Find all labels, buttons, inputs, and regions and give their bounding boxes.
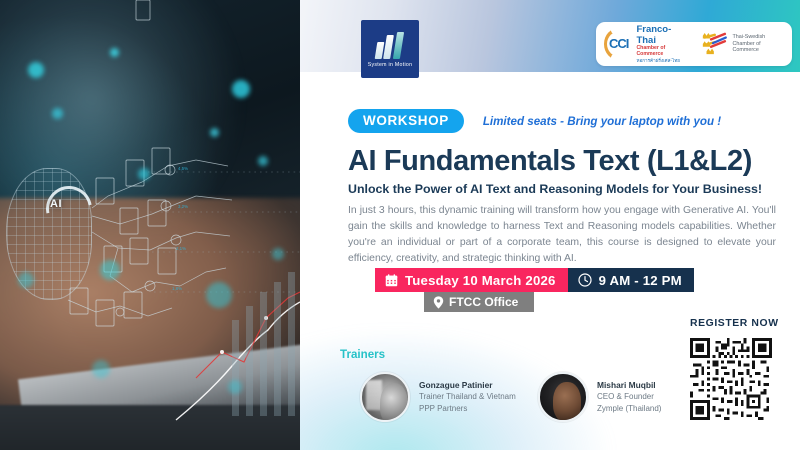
ftcc-wordmark: Franco-Thai Chamber of Commerce หอการค้า… (636, 25, 689, 63)
ftcc-sub: Chamber of Commerce (636, 46, 689, 58)
page-subtitle: Unlock the Power of AI Text and Reasonin… (348, 182, 762, 196)
svg-text:4,5%: 4,5% (178, 166, 188, 171)
bokeh-dot (110, 48, 119, 57)
bokeh-dot (92, 360, 110, 378)
trainers-label: Trainers (340, 348, 385, 361)
bokeh-dot (272, 248, 284, 260)
bokeh-dot (18, 272, 34, 288)
description-text: In just 3 hours, this dynamic training w… (348, 203, 776, 268)
svg-text:3,2%: 3,2% (178, 204, 188, 209)
clock-icon (578, 273, 592, 287)
avatar (538, 372, 588, 422)
event-time-text: 9 AM - 12 PM (599, 273, 682, 288)
trainer-info: Mishari Muqbil CEO & Founder Zymple (Tha… (597, 379, 661, 416)
workshop-row: WORKSHOP Limited seats - Bring your lapt… (348, 109, 721, 133)
sim-m-mark-icon (373, 31, 407, 59)
thai-swedish-chamber-logo: Thai-Swedish Chamber of Commerce (701, 31, 784, 57)
register-now-label: REGISTER NOW (690, 318, 779, 329)
content-panel: System in Motion CCI Franco-Thai Chamber… (300, 0, 800, 450)
bokeh-dot (100, 260, 120, 280)
trainer-info: Gonzague Patinier Trainer Thailand & Vie… (419, 379, 516, 416)
event-date-text: Tuesday 10 March 2026 (405, 273, 556, 288)
event-location-bar: FTCC Office (424, 292, 534, 312)
ftcc-thai: หอการค้าฝรั่งเศส-ไทย (636, 58, 689, 63)
location-pin-icon (433, 296, 444, 309)
bokeh-dot (228, 380, 242, 394)
ftcc-seal-icon: CCI (604, 28, 633, 60)
neural-network-overlay: 4,5% 3,2% 2,1% 1,8% (0, 0, 300, 450)
bokeh-dot (138, 168, 150, 180)
bokeh-dot (52, 108, 63, 119)
tscc-wordmark: Thai-Swedish Chamber of Commerce (733, 34, 785, 54)
event-time-block: 9 AM - 12 PM (568, 268, 694, 292)
ftcc-name: Franco-Thai (636, 25, 689, 46)
workshop-poster: AI (0, 0, 800, 450)
trainer-org: Zymple (Thailand) (597, 403, 661, 415)
limited-seats-note: Limited seats - Bring your laptop with y… (483, 115, 721, 128)
svg-text:2,1%: 2,1% (176, 246, 186, 251)
ftcc-cci-mark: CCI (609, 36, 628, 51)
bokeh-dot (210, 128, 219, 137)
qr-code[interactable] (690, 338, 772, 420)
trainer-card: Mishari Muqbil CEO & Founder Zymple (Tha… (538, 372, 661, 422)
bokeh-dot (232, 80, 250, 98)
event-location-text: FTCC Office (449, 295, 518, 309)
trainer-role: CEO & Founder (597, 391, 661, 403)
hero-photo: AI (0, 0, 300, 450)
page-title: AI Fundamentals Text (L1&L2) (348, 145, 752, 178)
sim-logo-caption: System in Motion (368, 62, 413, 68)
bokeh-dot (28, 62, 44, 78)
workshop-badge: WORKSHOP (348, 109, 464, 133)
trainer-role: Trainer Thailand & Vietnam (419, 391, 516, 403)
three-crowns-flag-icon (701, 31, 729, 57)
trainer-name: Gonzague Patinier (419, 379, 516, 392)
trainer-org: PPP Partners (419, 403, 516, 415)
tscc-name-line2: Chamber of Commerce (733, 41, 785, 55)
datetime-bar: Tuesday 10 March 2026 9 AM - 12 PM (375, 268, 694, 292)
partner-logos-card: CCI Franco-Thai Chamber of Commerce หอกา… (596, 22, 792, 66)
event-date-block: Tuesday 10 March 2026 (375, 268, 568, 292)
avatar (360, 372, 410, 422)
system-in-motion-logo: System in Motion (361, 20, 419, 78)
calendar-icon (385, 274, 398, 287)
svg-text:1,8%: 1,8% (172, 286, 182, 291)
franco-thai-chamber-logo: CCI Franco-Thai Chamber of Commerce หอกา… (604, 25, 689, 63)
trainer-card: Gonzague Patinier Trainer Thailand & Vie… (360, 372, 516, 422)
trainer-name: Mishari Muqbil (597, 379, 661, 392)
bokeh-dot (258, 156, 268, 166)
bokeh-dot (206, 282, 232, 308)
tscc-name-line1: Thai-Swedish (733, 34, 785, 41)
